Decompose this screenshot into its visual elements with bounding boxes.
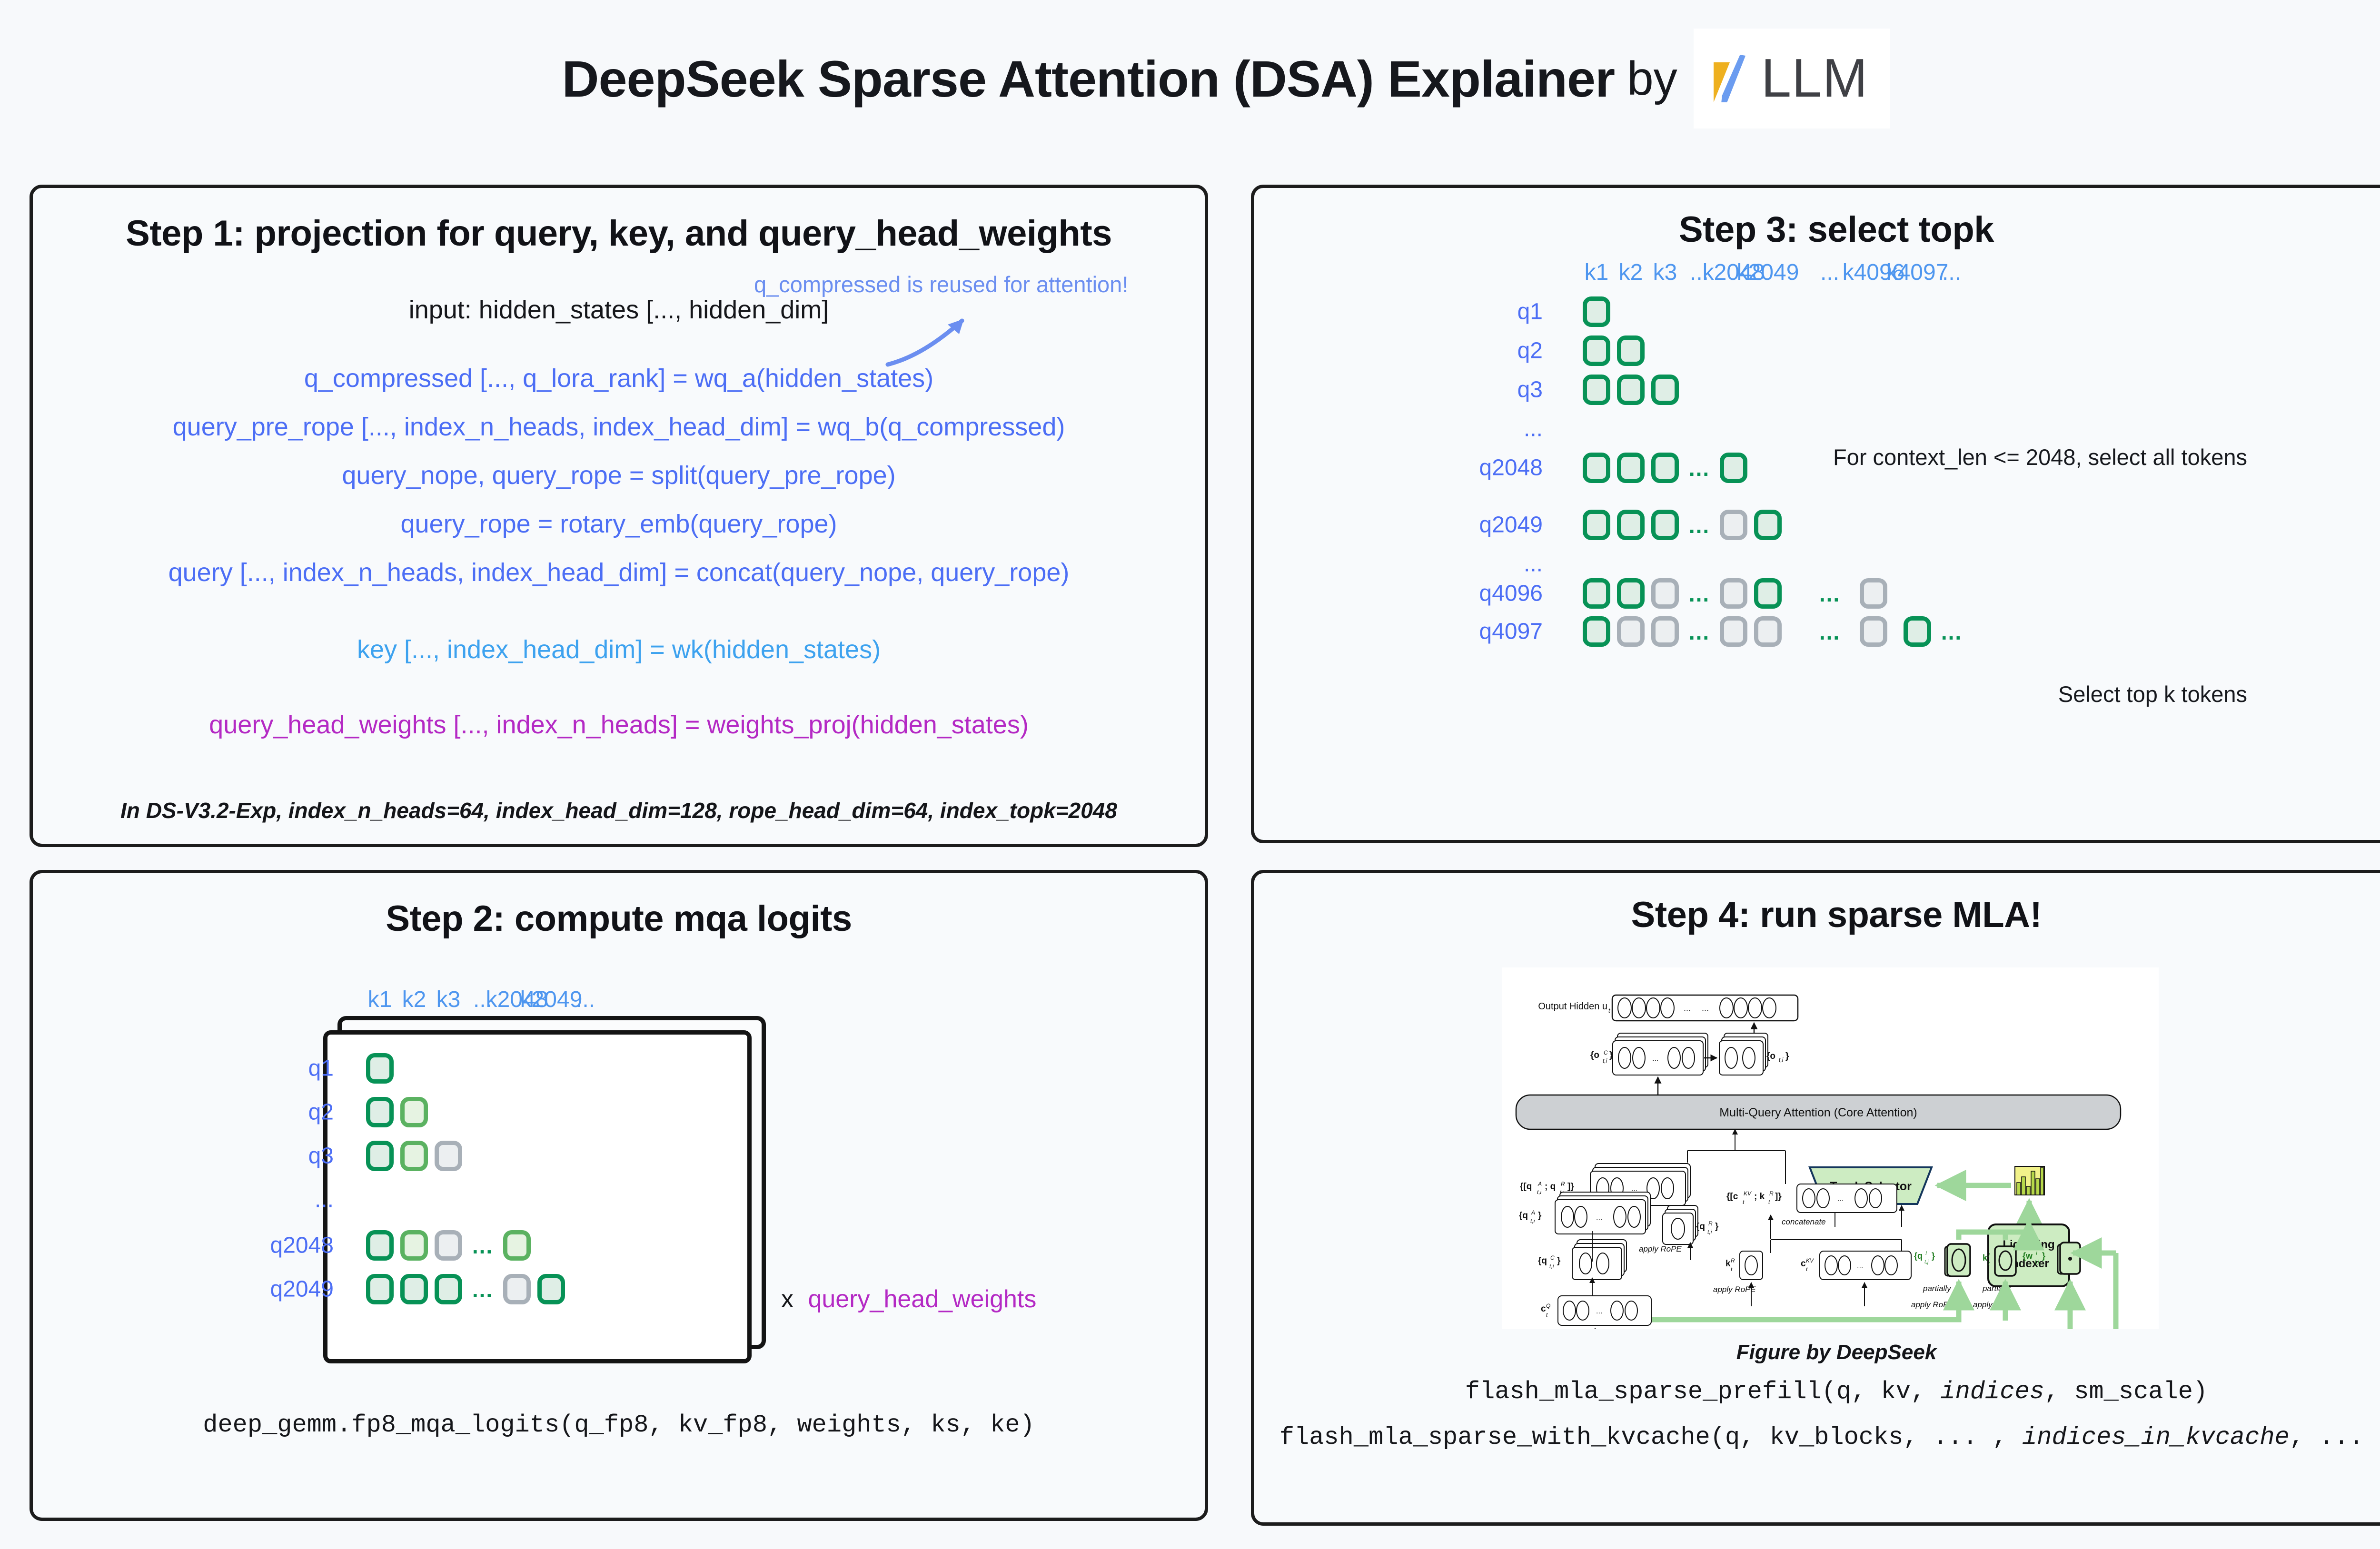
svg-text:; k: ; k	[1754, 1192, 1765, 1202]
matrix-cell-grey	[435, 1230, 462, 1261]
matrix-cell-green	[1651, 375, 1679, 405]
step-4-code-1: flash_mla_sparse_with_kvcache(q, kv_bloc…	[1254, 1423, 2380, 1451]
svg-text:{o: {o	[1590, 1050, 1599, 1060]
svg-text:A: A	[1531, 1209, 1535, 1216]
vllm-logo: LLM	[1694, 29, 1890, 128]
matrix-cell-green2	[503, 1230, 531, 1261]
panel-step-4: Step 4: run sparse MLA! Output Hidden u …	[1251, 870, 2380, 1526]
column-header-k1: k1	[368, 987, 392, 1013]
svg-text:{q: {q	[1519, 1211, 1528, 1221]
column-header-k2049: k2049	[1737, 259, 1799, 286]
matrix-cell-green	[1583, 616, 1610, 647]
svg-text:t,i: t,i	[1549, 1263, 1554, 1270]
matrix-cell-green	[366, 1274, 394, 1304]
matrix-cell-green	[1583, 335, 1610, 366]
row-label-q2048: q2048	[191, 1233, 334, 1259]
svg-text:]}: ]}	[1775, 1192, 1782, 1202]
note-arrow-icon	[885, 308, 980, 370]
matrix-cell-grey	[1651, 616, 1679, 647]
matrix-ellipsis: ...	[1819, 581, 1840, 607]
matrix-cell-green	[366, 1097, 394, 1127]
svg-text:t: t	[1806, 1266, 1808, 1273]
svg-text:t,i: t,i	[1707, 1229, 1712, 1235]
matrix-cell-green	[537, 1274, 565, 1304]
panel-step-3: Step 3: select topk k1k2k3...k2048k2049.…	[1251, 185, 2380, 843]
svg-text:Multi-Query Attention (Core At: Multi-Query Attention (Core Attention)	[1719, 1106, 1917, 1119]
svg-text:k: k	[1725, 1259, 1731, 1269]
svg-text:...: ...	[1857, 1262, 1863, 1270]
matrix-cell-grey	[1860, 578, 1887, 609]
matrix-cell-green	[1617, 335, 1645, 366]
step-4-title: Step 4: run sparse MLA!	[1254, 894, 2380, 936]
column-header-dotsdotsdots: ...	[1820, 259, 1839, 286]
matrix-ellipsis: ...	[1941, 619, 1962, 645]
matrix-cell-green2	[400, 1141, 428, 1171]
svg-text:}: }	[1715, 1222, 1719, 1232]
matrix-cell-green	[366, 1230, 394, 1261]
matrix-ellipsis: ...	[1689, 513, 1710, 538]
column-header-k3: k3	[1653, 259, 1677, 286]
matrix-ellipsis: ...	[472, 1233, 493, 1259]
column-header-k3: k3	[436, 987, 461, 1013]
svg-text:concatenate: concatenate	[1782, 1217, 1826, 1226]
svg-text:...: ...	[1652, 1055, 1658, 1063]
matrix-cell-grey	[1651, 578, 1679, 609]
svg-text:}: }	[2042, 1251, 2045, 1261]
matrix-cell-green	[1617, 375, 1645, 405]
matrix-ellipsis: ...	[1689, 455, 1710, 481]
row-label-q2049: q2049	[191, 1276, 334, 1302]
matrix-ellipsis: ...	[1689, 581, 1710, 607]
column-header-dotsdotsdots: ...	[1942, 259, 1961, 286]
svg-text:KV: KV	[1744, 1190, 1752, 1197]
svg-text:...: ...	[1596, 1307, 1602, 1315]
svg-text:apply RoPE: apply RoPE	[1973, 1300, 2016, 1309]
svg-text:I: I	[1988, 1253, 1990, 1258]
vllm-logo-icon	[1713, 48, 1756, 109]
svg-text:c: c	[1801, 1259, 1806, 1269]
step-1-eq-3: query_rope = rotary_emb(query_rope)	[33, 509, 1205, 539]
step-1-footnote: In DS-V3.2-Exp, index_n_heads=64, index_…	[33, 798, 1205, 823]
row-label-dotsdotsdots: ...	[1400, 416, 1543, 442]
svg-text:I: I	[1925, 1251, 1927, 1256]
matrix-cell-green	[1651, 453, 1679, 483]
matrix-cell-green	[1754, 578, 1782, 609]
matrix-cell-grey	[1754, 616, 1782, 647]
row-label-q3: q3	[1400, 377, 1543, 403]
svg-text:}: }	[1557, 1256, 1561, 1266]
matrix-cell-grey	[1720, 510, 1747, 540]
matrix-cell-green	[1583, 375, 1610, 405]
matrix-cell-green	[1617, 578, 1645, 609]
step-2-title: Step 2: compute mqa logits	[33, 898, 1205, 939]
svg-text:R: R	[1769, 1190, 1774, 1197]
step-3-title: Step 3: select topk	[1254, 209, 2380, 250]
svg-text:R: R	[1708, 1220, 1713, 1227]
matrix-cell-green2	[400, 1097, 428, 1127]
svg-text:apply RoPE: apply RoPE	[1911, 1300, 1954, 1309]
column-header-k1: k1	[1585, 259, 1609, 286]
matrix-cell-green	[1617, 453, 1645, 483]
page-title-by: by	[1627, 51, 1677, 106]
matrix-ellipsis: ...	[1819, 619, 1840, 645]
svg-text:c: c	[1541, 1304, 1546, 1314]
row-label-q2049: q2049	[1400, 512, 1543, 538]
row-label-q3: q3	[191, 1143, 334, 1169]
step-2-code: deep_gemm.fp8_mqa_logits(q_fp8, kv_fp8, …	[33, 1411, 1205, 1439]
matrix-cell-green	[1720, 453, 1747, 483]
row-label-q2048: q2048	[1400, 455, 1543, 481]
row-label-q1: q1	[1400, 299, 1543, 325]
svg-text:t: t	[1768, 1199, 1770, 1205]
matrix-cell-green	[435, 1274, 462, 1304]
step-1-eq-0: q_compressed [..., q_lora_rank] = wq_a(h…	[33, 364, 1205, 393]
step-1-title: Step 1: projection for query, key, and q…	[33, 213, 1205, 254]
step-3-annotation-bottom: Select top k tokens	[2058, 681, 2247, 707]
matrix-ellipsis: ...	[472, 1277, 493, 1302]
svg-text:t,j: t,j	[1924, 1259, 1929, 1265]
svg-text:...: ...	[1684, 1004, 1691, 1013]
svg-text:...: ...	[1702, 1004, 1709, 1013]
matrix-cell-green	[400, 1274, 428, 1304]
column-header-k2049: k2049	[520, 987, 583, 1013]
svg-text:Q: Q	[1546, 1302, 1550, 1309]
svg-text:t,i: t,i	[1537, 1189, 1542, 1195]
svg-text:...: ...	[1596, 1214, 1602, 1222]
svg-text:{w: {w	[2023, 1251, 2033, 1261]
deepseek-architecture-figure: Output Hidden u t ......	[1502, 967, 2159, 1329]
svg-text:; q: ; q	[1545, 1182, 1556, 1192]
svg-text:A: A	[1537, 1181, 1542, 1187]
vllm-logo-text: LLM	[1761, 51, 1868, 106]
matrix-cell-green2	[400, 1230, 428, 1261]
svg-text:t,i: t,i	[1530, 1218, 1535, 1224]
matrix-cell-green	[366, 1053, 394, 1084]
matrix-cell-grey	[1720, 578, 1747, 609]
matrix-cell-green	[1754, 510, 1782, 540]
matrix-cell-green	[1583, 296, 1610, 327]
matrix-cell-green	[1617, 510, 1645, 540]
svg-text:{q: {q	[1914, 1251, 1923, 1261]
svg-text:{q: {q	[1538, 1256, 1547, 1266]
svg-text:t: t	[1731, 1266, 1733, 1273]
page-root: DeepSeek Sparse Attention (DSA) Explaine…	[0, 0, 2380, 1549]
matrix-cell-green	[1583, 510, 1610, 540]
svg-text:{o: {o	[1766, 1051, 1775, 1061]
matrix-cell-green	[1904, 616, 1931, 647]
svg-text:C: C	[1604, 1049, 1608, 1056]
matrix-cell-grey	[435, 1141, 462, 1171]
page-title: DeepSeek Sparse Attention (DSA) Explaine…	[562, 49, 1615, 109]
matrix-cell-green	[366, 1141, 394, 1171]
matrix-cell-grey	[1860, 616, 1887, 647]
svg-text:R: R	[1561, 1181, 1565, 1187]
column-header-k2: k2	[402, 987, 426, 1013]
svg-text:k: k	[1983, 1253, 1988, 1263]
svg-text:t: t	[1743, 1199, 1745, 1205]
svg-text:t,j: t,j	[2035, 1259, 2039, 1265]
svg-text:t,i: t,i	[1779, 1056, 1784, 1063]
svg-text:]}: ]}	[1567, 1182, 1574, 1192]
step-1-eq-6: query_head_weights [..., index_n_heads] …	[33, 710, 1205, 740]
step-3-annotation-top: For context_len <= 2048, select all toke…	[1833, 444, 2247, 470]
panel-step-1: Step 1: projection for query, key, and q…	[30, 185, 1208, 847]
page-header: DeepSeek Sparse Attention (DSA) Explaine…	[0, 29, 2380, 128]
matrix-cell-green	[1651, 510, 1679, 540]
matrix-cell-grey	[1617, 616, 1645, 647]
svg-text:t: t	[1608, 1007, 1611, 1014]
matrix-cell-green	[1583, 578, 1610, 609]
svg-text:{q: {q	[1696, 1222, 1705, 1232]
row-label-dotsdotsdots: ...	[191, 1187, 334, 1213]
row-label-q2: q2	[1400, 338, 1543, 364]
step-4-code-0: flash_mla_sparse_prefill(q, kv, indices,…	[1254, 1378, 2380, 1406]
svg-text:}: }	[1609, 1050, 1613, 1060]
svg-text:KV: KV	[1806, 1257, 1814, 1264]
panel-step-2: Step 2: compute mqa logits k1k2k3...k204…	[30, 870, 1208, 1521]
svg-text:}: }	[1932, 1251, 1935, 1261]
svg-text:C: C	[1550, 1254, 1555, 1261]
row-label-dotsdotsdots: ...	[1400, 551, 1543, 577]
svg-text:}: }	[1538, 1211, 1542, 1221]
svg-text:Output Hidden u: Output Hidden u	[1538, 1001, 1607, 1012]
step-1-note: q_compressed is reused for attention!	[754, 271, 1128, 297]
svg-text:{[q: {[q	[1520, 1182, 1532, 1192]
step-1-input-line: input: hidden_states [..., hidden_dim]	[33, 295, 1205, 325]
column-header-k4097: k4097	[1886, 259, 1949, 286]
step-1-eq-5: key [..., index_head_dim] = wk(hidden_st…	[33, 635, 1205, 664]
svg-text:t: t	[1546, 1312, 1548, 1318]
svg-text:R: R	[1731, 1257, 1735, 1264]
svg-text:apply RoPE: apply RoPE	[1713, 1285, 1756, 1294]
row-label-q4096: q4096	[1400, 581, 1543, 607]
svg-text:partially: partially	[1923, 1284, 1952, 1293]
svg-text:{[c: {[c	[1726, 1192, 1738, 1202]
multiply-symbol: x	[781, 1285, 793, 1313]
column-header-dotsdotsdots: ...	[576, 987, 595, 1013]
matrix-cell-grey	[1720, 616, 1747, 647]
step-4-figure-caption: Figure by DeepSeek	[1254, 1341, 2380, 1364]
row-label-q2: q2	[191, 1099, 334, 1125]
svg-text:...: ...	[1837, 1195, 1844, 1203]
svg-text:apply RoPE: apply RoPE	[1639, 1244, 1682, 1253]
matrix-ellipsis: ...	[1689, 619, 1710, 645]
matrix-cell-grey	[503, 1274, 531, 1304]
svg-text:I: I	[2036, 1251, 2037, 1256]
multiply-operand: query_head_weights	[808, 1285, 1036, 1313]
step-2-multiply: x query_head_weights	[781, 1285, 1036, 1313]
svg-text:t,i: t,i	[1603, 1057, 1607, 1064]
matrix-cell-green	[1583, 453, 1610, 483]
row-label-q1: q1	[191, 1056, 334, 1082]
column-header-k2: k2	[1619, 259, 1643, 286]
svg-text:}: }	[1785, 1051, 1789, 1061]
row-label-q4097: q4097	[1400, 619, 1543, 645]
step-1-eq-1: query_pre_rope [..., index_n_heads, inde…	[33, 412, 1205, 442]
step-1-eq-4: query [..., index_n_heads, index_head_di…	[33, 558, 1205, 587]
deepseek-figure-svg: Output Hidden u t ......	[1502, 967, 2159, 1329]
step-1-eq-2: query_nope, query_rope = split(query_pre…	[33, 461, 1205, 490]
